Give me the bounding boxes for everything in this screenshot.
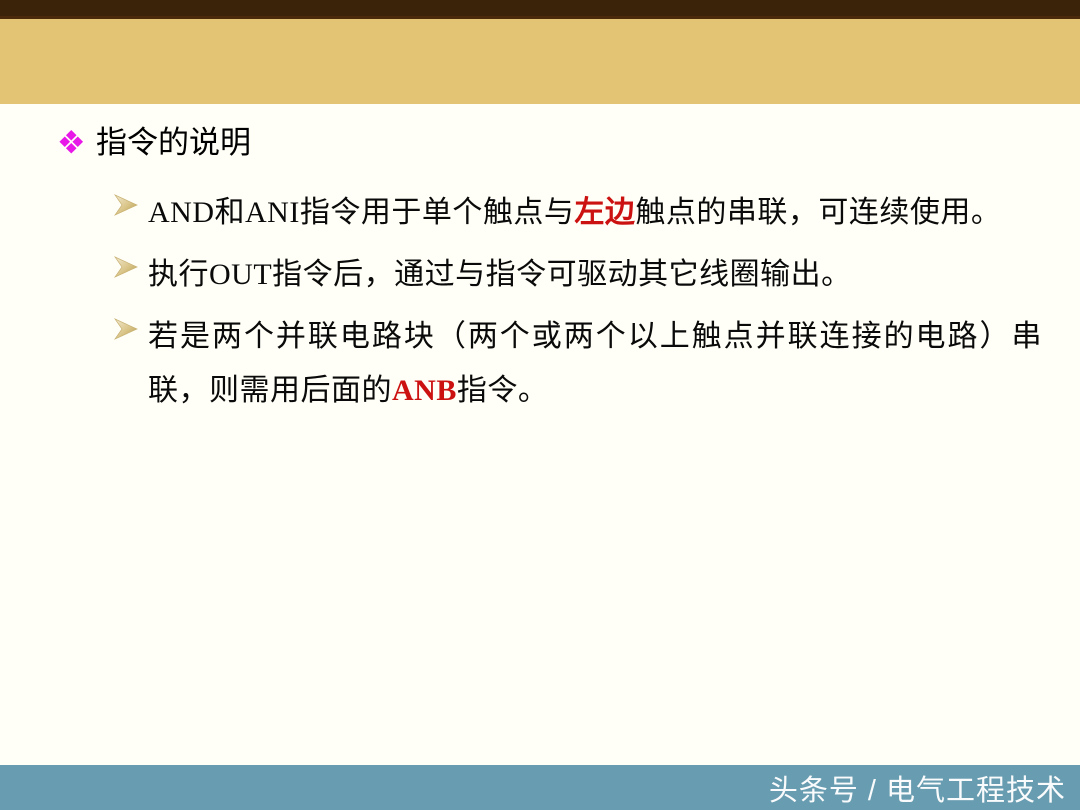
slide-body: 指令的说明 AN bbox=[0, 104, 1080, 765]
list-item-text: 若是两个并联电路块（两个或两个以上触点并联连接的电路）串联，则需用后面的ANB指… bbox=[148, 310, 1042, 418]
list-item: 若是两个并联电路块（两个或两个以上触点并联连接的电路）串联，则需用后面的ANB指… bbox=[112, 310, 1042, 418]
list-item: 执行OUT指令后，通过与指令可驱动其它线圈输出。 bbox=[112, 248, 1042, 302]
list-item-text: 执行OUT指令后，通过与指令可驱动其它线圈输出。 bbox=[148, 248, 1042, 302]
highlight-text-run: 左边 bbox=[574, 196, 635, 229]
arrow-bullet-icon bbox=[112, 252, 140, 292]
text-run: 指令。 bbox=[457, 374, 549, 407]
text-run: 若是两个并联电路块（两个或两个以上触点并联连接的电路）串联，则需用后面的 bbox=[148, 320, 1042, 407]
bullet-list: AND和ANI指令用于单个触点与左边触点的串联，可连续使用。 执行OUT指令后，… bbox=[112, 186, 1042, 426]
header-top-bar bbox=[0, 0, 1080, 16]
presentation-slide: 指令的说明 AN bbox=[0, 0, 1080, 810]
text-run: 触点的串联，可连续使用。 bbox=[635, 196, 1001, 229]
text-run: AND和ANI指令用于单个触点与 bbox=[148, 196, 574, 229]
list-item-text: AND和ANI指令用于单个触点与左边触点的串联，可连续使用。 bbox=[148, 186, 1042, 240]
diamond-cluster-bullet-icon bbox=[58, 126, 84, 160]
heading-text: 指令的说明 bbox=[96, 126, 251, 160]
heading-bullet-row: 指令的说明 bbox=[58, 126, 251, 160]
footer-watermark-text: 头条号 / 电气工程技术 bbox=[769, 767, 1066, 809]
header-title-band bbox=[0, 19, 1080, 104]
highlight-text-run: ANB bbox=[392, 374, 457, 407]
footer-spacer bbox=[0, 745, 1080, 765]
text-run: 执行OUT指令后，通过与指令可驱动其它线圈输出。 bbox=[148, 258, 852, 291]
arrow-bullet-icon bbox=[112, 190, 140, 230]
footer-bar: 头条号 / 电气工程技术 bbox=[0, 765, 1080, 810]
slide-header bbox=[0, 0, 1080, 104]
arrow-bullet-icon bbox=[112, 314, 140, 354]
list-item: AND和ANI指令用于单个触点与左边触点的串联，可连续使用。 bbox=[112, 186, 1042, 240]
